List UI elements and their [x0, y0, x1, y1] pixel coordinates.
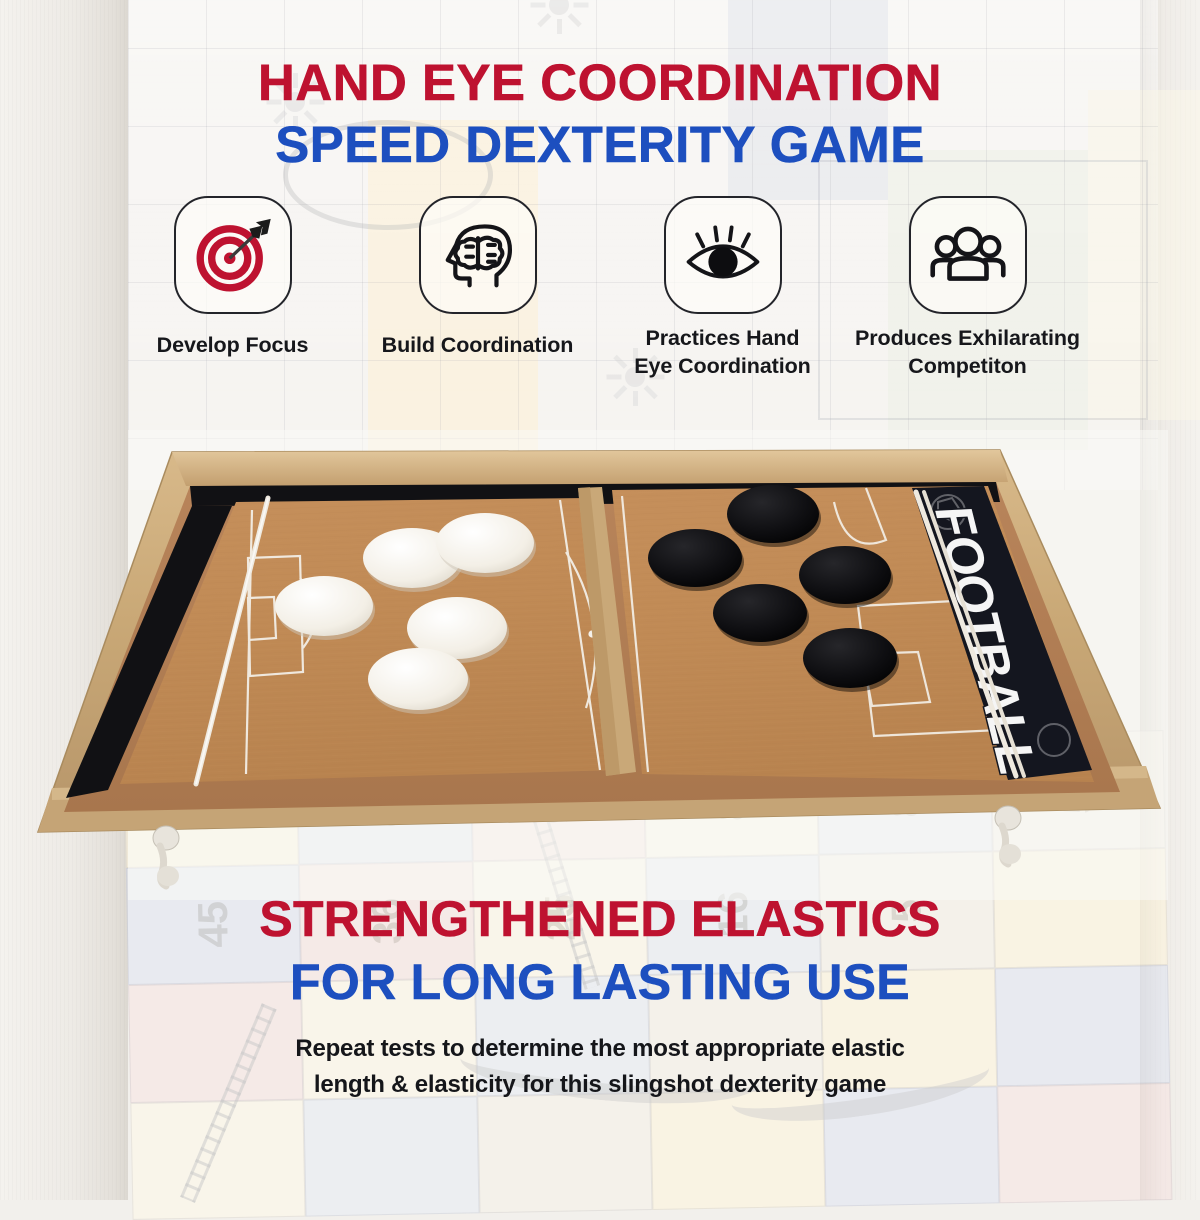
feature-row: Develop Focus Build Coordination [0, 196, 1200, 381]
bottom-headline-2: FOR LONG LASTING USE [0, 955, 1200, 1009]
icon-tile [419, 196, 537, 314]
slingshot-football-board: FOOTBALL [0, 440, 1200, 890]
headline-line-1: HAND EYE COORDINATION [0, 56, 1200, 110]
brain-gear-head-icon [436, 213, 520, 297]
feature-label: Produces ExhilaratingCompetiton [855, 324, 1080, 381]
headline-line-2: SPEED DEXTERITY GAME [0, 118, 1200, 172]
target-dartboard-icon [192, 214, 274, 296]
bottom-body-line-1: Repeat tests to determine the most appro… [0, 1031, 1200, 1067]
elastic-knob [995, 806, 1021, 864]
icon-tile [174, 196, 292, 314]
feature-produces-competition: Produces ExhilaratingCompetiton [845, 196, 1090, 381]
product-image: FOOTBALL [0, 440, 1200, 890]
feature-label: Practices HandEye Coordination [634, 324, 810, 381]
icon-tile [664, 196, 782, 314]
feature-build-coordination: Build Coordination [355, 196, 600, 359]
feature-practices-hand-eye: Practices HandEye Coordination [600, 196, 845, 381]
people-group-icon [926, 213, 1010, 297]
elastic-knob [153, 826, 179, 886]
feature-label: Build Coordination [382, 331, 574, 359]
headline-block: HAND EYE COORDINATION SPEED DEXTERITY GA… [0, 0, 1200, 172]
bottom-headline-1: STRENGTHENED ELASTICS [0, 892, 1200, 946]
bottom-body-line-2: length & elasticity for this slingshot d… [0, 1067, 1200, 1103]
feature-label: Develop Focus [157, 331, 309, 359]
bottom-text-block: STRENGTHENED ELASTICS FOR LONG LASTING U… [0, 892, 1200, 1103]
feature-develop-focus: Develop Focus [110, 196, 355, 359]
eye-icon [680, 212, 766, 298]
bottom-body-text: Repeat tests to determine the most appro… [0, 1031, 1200, 1103]
icon-tile [909, 196, 1027, 314]
